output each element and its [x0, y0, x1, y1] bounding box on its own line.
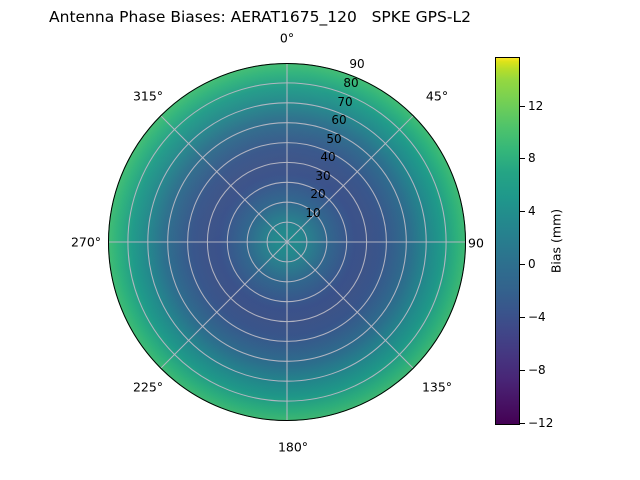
polar-angle-label-0: 0°: [280, 31, 294, 46]
colorbar-label-m12: −12: [528, 416, 553, 430]
polar-angle-label-90: 90: [468, 236, 484, 251]
polar-angle-label-315: 315°: [133, 89, 163, 104]
colorbar-tick-m8: [520, 370, 525, 371]
colorbar-tick-m12: [520, 423, 525, 424]
bias-azimuth-modulation: [108, 63, 466, 421]
polar-radius-label-70: 70: [337, 95, 352, 109]
polar-angle-label-225: 225°: [133, 380, 163, 395]
polar-radius-label-90: 90: [349, 57, 364, 71]
polar-angle-label-45: 45°: [426, 89, 448, 104]
colorbar-tick-0: [520, 264, 525, 265]
polar-radius-label-10: 10: [305, 206, 320, 220]
colorbar-label-4: 4: [528, 204, 536, 218]
colorbar-label-0: 0: [528, 257, 536, 271]
polar-radius-label-20: 20: [310, 187, 325, 201]
colorbar[interactable]: 12 8 4 0 −4 −8 −12: [495, 57, 520, 425]
polar-angle-label-135: 135°: [422, 380, 452, 395]
colorbar-gradient: [495, 57, 520, 425]
polar-radius-label-40: 40: [320, 150, 335, 164]
polar-axes[interactable]: [108, 63, 466, 421]
colorbar-label-m8: −8: [528, 363, 546, 377]
colorbar-tick-12: [520, 106, 525, 107]
polar-radius-label-60: 60: [331, 113, 346, 127]
colorbar-label-12: 12: [528, 99, 543, 113]
colorbar-tick-4: [520, 211, 525, 212]
colorbar-title: Bias (mm): [549, 209, 564, 273]
colorbar-label-m4: −4: [528, 310, 546, 324]
page-title: Antenna Phase Biases: AERAT1675_120 SPKE…: [0, 8, 520, 26]
colorbar-tick-m4: [520, 317, 525, 318]
polar-radius-label-80: 80: [343, 76, 358, 90]
polar-data-clip: [108, 63, 466, 421]
colorbar-tick-8: [520, 158, 525, 159]
polar-radius-label-50: 50: [326, 132, 341, 146]
polar-radius-label-30: 30: [315, 169, 330, 183]
colorbar-label-8: 8: [528, 151, 536, 165]
figure-canvas: Antenna Phase Biases: AERAT1675_120 SPKE…: [0, 0, 640, 480]
polar-angle-label-180: 180°: [278, 440, 308, 455]
polar-angle-label-270: 270°: [71, 235, 101, 250]
